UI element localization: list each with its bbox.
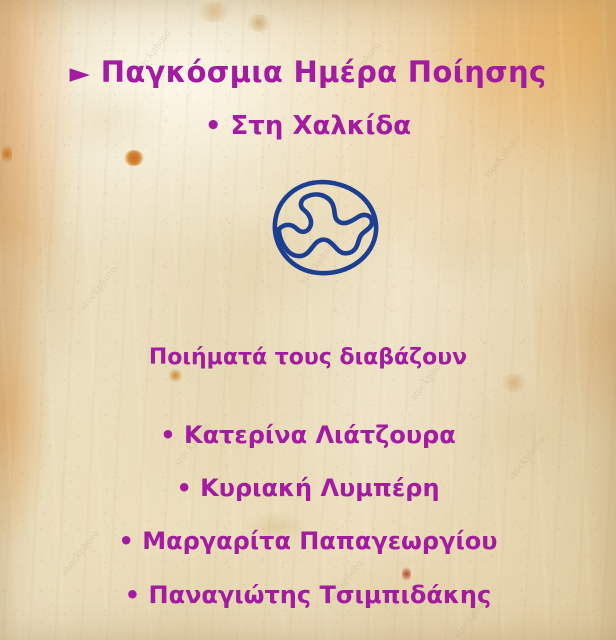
reader-name: Παναγιώτης Τσιμπιδάκης [149,581,492,609]
round-bullet: • [125,581,140,609]
reader-name: Μαργαρίτα Παπαγεωργίου [142,527,497,555]
round-bullet: • [176,474,191,502]
reader-name: Κατερίνα Λιάτζουρα [184,421,456,449]
round-bullet: • [160,421,175,449]
reader-list-item: • Κατερίνα Λιάτζουρα [0,421,616,449]
triangle-bullet: ► [70,58,91,89]
poster-title-line-2: • Στη Χαλκίδα [0,111,616,141]
poster-subtitle-text: Στη Χαλκίδα [231,111,412,141]
poetry-day-poster: stockphoto stockphoto stockphoto stockph… [0,0,616,640]
poster-content: ► Παγκόσμια Ημέρα Ποίησης • Στη Χαλκίδα … [0,0,616,640]
reader-list-item: • Παναγιώτης Τσιμπιδάκης [0,581,616,609]
section-label: Ποιήματά τους διαβάζουν [0,345,616,370]
poster-title-text: Παγκόσμια Ημέρα Ποίησης [101,55,547,89]
reader-list-item: • Κυριακή Λυμπέρη [0,474,616,502]
round-bullet: • [119,527,134,555]
reader-name: Κυριακή Λυμπέρη [200,474,439,502]
round-bullet: • [205,111,222,141]
poster-title-line-1: ► Παγκόσμια Ημέρα Ποίησης [0,55,616,89]
reader-list-item: • Μαργαρίτα Παπαγεωργίου [0,527,616,555]
globe-icon [266,176,384,278]
